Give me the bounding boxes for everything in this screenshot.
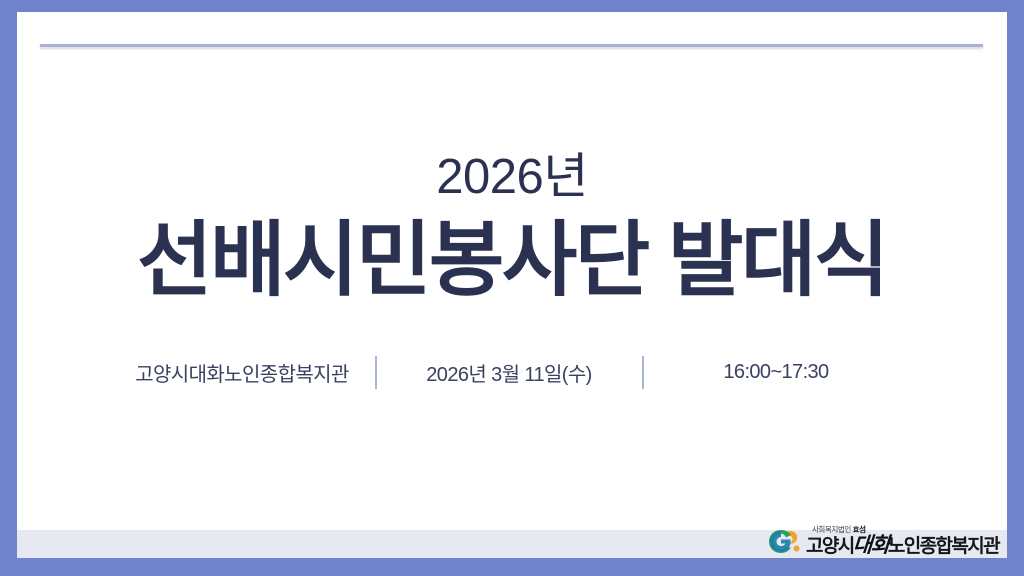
logo-name: 고양시대화노인종합복지관: [806, 535, 999, 556]
logo-tagline: 사회복지법인 효섬: [812, 526, 866, 534]
logo-name-tail: 노인종합복지관: [888, 537, 999, 556]
page-title: 선배시민봉사단 발대식: [137, 218, 887, 304]
slide-content: 2026년 선배시민봉사단 발대식 고양시대화노인종합복지관 2026년 3월 …: [17, 12, 1007, 530]
logo-wordmark: 사회복지법인 효섬 고양시대화노인종합복지관: [806, 526, 999, 556]
logo-name-lead: 고양시: [806, 537, 854, 556]
meta-venue: 고양시대화노인종합복지관: [110, 358, 375, 387]
logo-name-accent: 대화: [852, 535, 890, 556]
slide-canvas: 2026년 선배시민봉사단 발대식 고양시대화노인종합복지관 2026년 3월 …: [17, 12, 1007, 558]
logo-emblem-icon: [768, 528, 801, 555]
event-meta-row: 고양시대화노인종합복지관 2026년 3월 11일(수) 16:00~17:30: [110, 356, 909, 389]
footer-strip: 사회복지법인 효섬 고양시대화노인종합복지관: [17, 530, 1007, 558]
organization-logo: 사회복지법인 효섬 고양시대화노인종합복지관: [768, 521, 999, 558]
logo-tagline-prefix: 사회복지법인: [812, 525, 853, 534]
logo-tagline-brand: 효섬: [853, 525, 866, 534]
meta-date: 2026년 3월 11일(수): [377, 358, 642, 387]
slide-frame: 2026년 선배시민봉사단 발대식 고양시대화노인종합복지관 2026년 3월 …: [0, 0, 1024, 576]
meta-time: 16:00~17:30: [644, 361, 909, 384]
eyebrow-year: 2026년: [436, 153, 588, 202]
